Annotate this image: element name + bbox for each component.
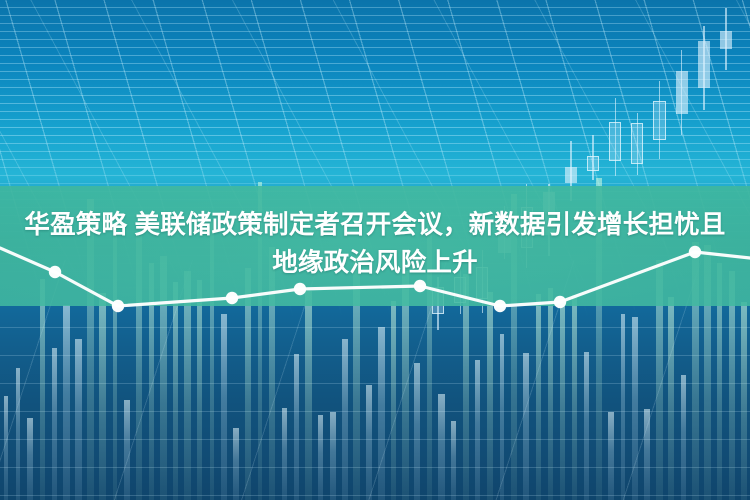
candlestick-body xyxy=(720,31,732,50)
candlestick-body xyxy=(609,122,621,161)
candlestick-body xyxy=(565,167,577,183)
headline-line-2: 地缘政治风险上升 xyxy=(10,244,740,282)
candlestick-body xyxy=(676,71,688,114)
banner-image: 华盈策略 美联储政策制定者召开会议，新数据引发增长担忧且 地缘政治风险上升 xyxy=(0,0,750,500)
candlestick-body xyxy=(587,156,599,172)
headline-line-1: 华盈策略 美联储政策制定者召开会议，新数据引发增长担忧且 xyxy=(10,206,740,244)
trend-line-marker xyxy=(226,292,238,304)
trend-line-marker xyxy=(554,296,566,308)
headline-block: 华盈策略 美联储政策制定者召开会议，新数据引发增长担忧且 地缘政治风险上升 xyxy=(0,206,750,282)
trend-line-marker xyxy=(294,283,306,295)
trend-line-marker xyxy=(494,300,506,312)
candlestick-body xyxy=(698,41,710,88)
trend-line-marker xyxy=(112,300,124,312)
candlestick-body xyxy=(653,101,665,140)
candlestick-body xyxy=(631,123,643,164)
